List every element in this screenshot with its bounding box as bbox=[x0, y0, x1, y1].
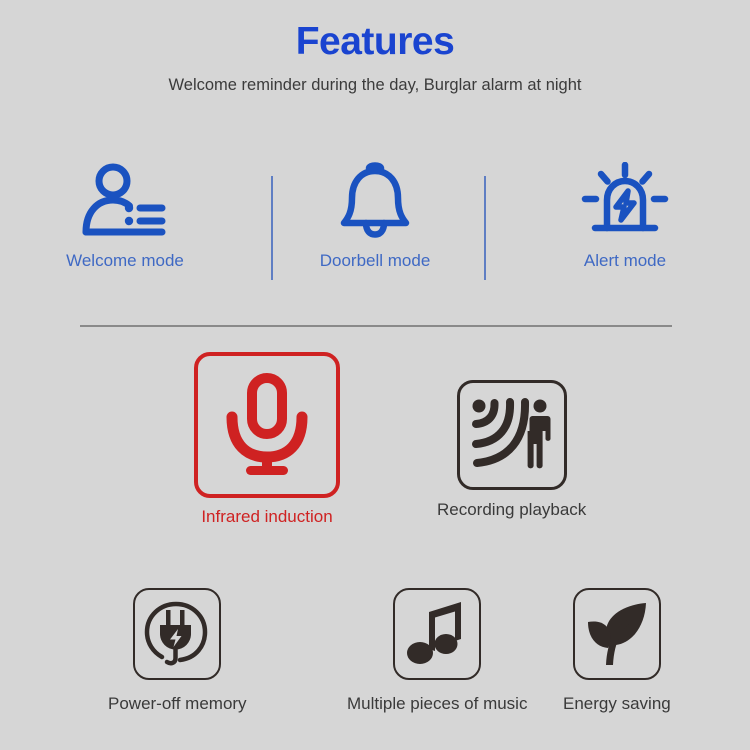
mode-item-alert[interactable]: Alert mode bbox=[500, 160, 750, 271]
power-plug-icon bbox=[142, 598, 212, 670]
feature-label-power-off-memory: Power-off memory bbox=[108, 694, 247, 714]
mid-features-row: Infrared induction Recording bbox=[0, 352, 750, 542]
mode-divider-1 bbox=[271, 176, 273, 280]
energy-box bbox=[573, 588, 661, 680]
feature-label-infrared: Infrared induction bbox=[201, 507, 332, 527]
infrared-box bbox=[194, 352, 340, 498]
music-box bbox=[393, 588, 481, 680]
feature-item-energy-saving[interactable]: Energy saving bbox=[563, 588, 671, 714]
mode-label-doorbell: Doorbell mode bbox=[320, 251, 431, 271]
page-title: Features bbox=[0, 22, 750, 63]
bell-icon bbox=[336, 160, 414, 242]
recording-box bbox=[457, 380, 567, 490]
mode-item-welcome[interactable]: Welcome mode bbox=[0, 160, 250, 271]
feature-item-recording[interactable]: Recording playback bbox=[437, 380, 586, 520]
mode-item-doorbell[interactable]: Doorbell mode bbox=[250, 160, 500, 271]
leaf-icon bbox=[584, 599, 650, 669]
mode-label-alert: Alert mode bbox=[584, 251, 666, 271]
power-box bbox=[133, 588, 221, 680]
features-page: Features Welcome reminder during the day… bbox=[0, 0, 750, 750]
mode-divider-2 bbox=[484, 176, 486, 280]
person-glyph bbox=[527, 400, 550, 469]
section-divider bbox=[80, 325, 672, 327]
feature-item-power-off-memory[interactable]: Power-off memory bbox=[108, 588, 247, 714]
mode-label-welcome: Welcome mode bbox=[66, 251, 184, 271]
page-header: Features Welcome reminder during the day… bbox=[0, 0, 750, 96]
feature-label-recording: Recording playback bbox=[437, 500, 586, 520]
motion-sensor-icon bbox=[470, 397, 554, 473]
feature-label-music: Multiple pieces of music bbox=[347, 694, 527, 714]
feature-item-music[interactable]: Multiple pieces of music bbox=[347, 588, 527, 714]
music-note-icon bbox=[404, 600, 470, 668]
feature-label-energy-saving: Energy saving bbox=[563, 694, 671, 714]
siren-alert-icon bbox=[581, 160, 669, 242]
modes-row: Welcome mode Doorbell mode bbox=[0, 160, 750, 290]
bottom-features-row: Power-off memory Multiple pieces of musi… bbox=[0, 588, 750, 748]
feature-item-infrared[interactable]: Infrared induction bbox=[194, 352, 340, 527]
page-subtitle: Welcome reminder during the day, Burglar… bbox=[0, 76, 750, 96]
person-list-icon bbox=[82, 160, 168, 242]
microphone-icon bbox=[219, 373, 315, 477]
